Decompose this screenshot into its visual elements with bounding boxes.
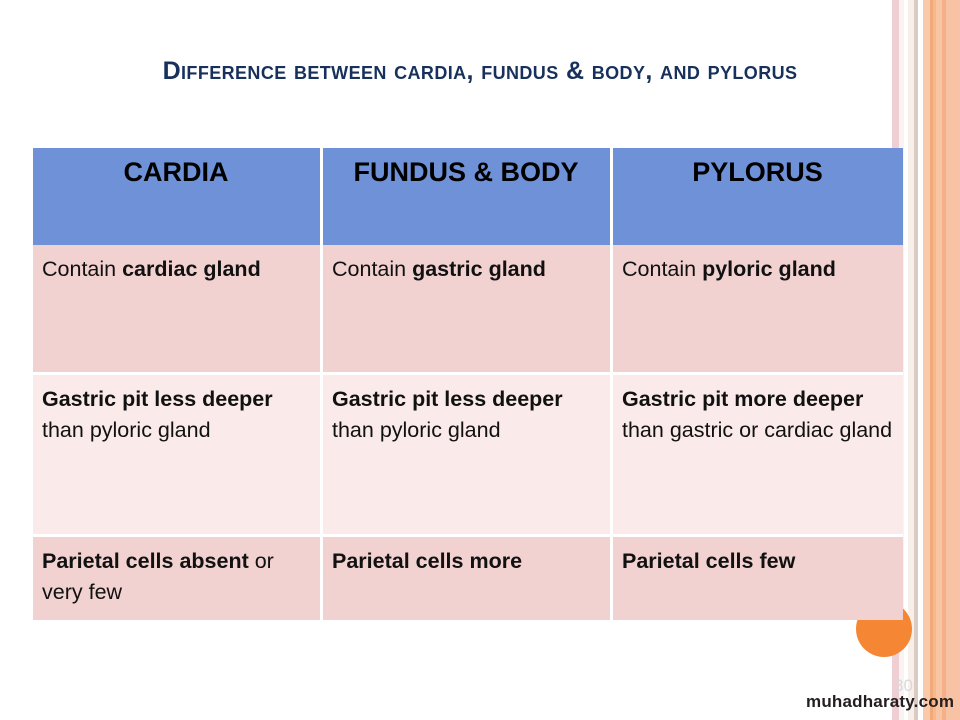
table-row: Contain cardiac glandContain gastric gla… [33,245,903,375]
decor-stripe-4 [914,0,918,720]
cell-emphasis-text: cardiac gland [122,257,261,281]
table-row: Gastric pit less deeper than pyloric gla… [33,375,903,537]
cell-emphasis-text: pyloric gland [702,257,836,281]
cell-emphasis-text: gastric gland [412,257,546,281]
site-watermark: muhadharaty.com [806,692,954,712]
table-cell-r2-c1: Gastric pit less deeper than pyloric gla… [33,375,323,537]
cell-emphasis-text: Gastric pit more deeper [622,387,863,411]
column-header-fundus-body: FUNDUS & BODY [323,148,613,245]
table-cell-r2-c3: Gastric pit more deeper than gastric or … [613,375,903,537]
table-header-row: CARDIA FUNDUS & BODY PYLORUS [33,148,903,245]
cell-tail-text: than gastric or cardiac gland [622,418,892,442]
cell-emphasis-text: Gastric pit less deeper [332,387,563,411]
cell-emphasis-text: Parietal cells more [332,549,522,573]
decor-stripe-11 [946,0,960,720]
decor-stripe-3 [908,0,914,720]
table-cell-r1-c3: Contain pyloric gland [613,245,903,375]
decor-stripe-9 [936,0,942,720]
cell-emphasis-text: Parietal cells absent [42,549,249,573]
table-header: CARDIA FUNDUS & BODY PYLORUS [33,148,903,245]
table-cell-r2-c2: Gastric pit less deeper than pyloric gla… [323,375,613,537]
table-row: Parietal cells absent or very fewParieta… [33,537,903,620]
decor-stripe-7 [930,0,933,720]
cell-lead-text: Contain [622,257,702,281]
column-header-cardia: CARDIA [33,148,323,245]
cell-emphasis-text: Parietal cells few [622,549,795,573]
table-cell-r3-c2: Parietal cells more [323,537,613,620]
table-cell-r3-c3: Parietal cells few [613,537,903,620]
table-cell-r1-c2: Contain gastric gland [323,245,613,375]
page-title: Difference between cardia, fundus & body… [80,52,880,91]
cell-lead-text: Contain [332,257,412,281]
decor-stripe-8 [933,0,936,720]
cell-lead-text: Contain [42,257,122,281]
cell-emphasis-text: Gastric pit less deeper [42,387,273,411]
table-body: Contain cardiac glandContain gastric gla… [33,245,903,620]
table-cell-r1-c1: Contain cardiac gland [33,245,323,375]
slide-canvas: Difference between cardia, fundus & body… [0,0,960,720]
table-cell-r3-c1: Parietal cells absent or very few [33,537,323,620]
decor-stripe-6 [923,0,930,720]
cell-tail-text: than pyloric gland [332,418,501,442]
decor-stripe-5 [918,0,923,720]
decor-stripe-10 [942,0,946,720]
cell-tail-text: than pyloric gland [42,418,211,442]
comparison-table: CARDIA FUNDUS & BODY PYLORUS Contain car… [33,148,903,620]
column-header-pylorus: PYLORUS [613,148,903,245]
